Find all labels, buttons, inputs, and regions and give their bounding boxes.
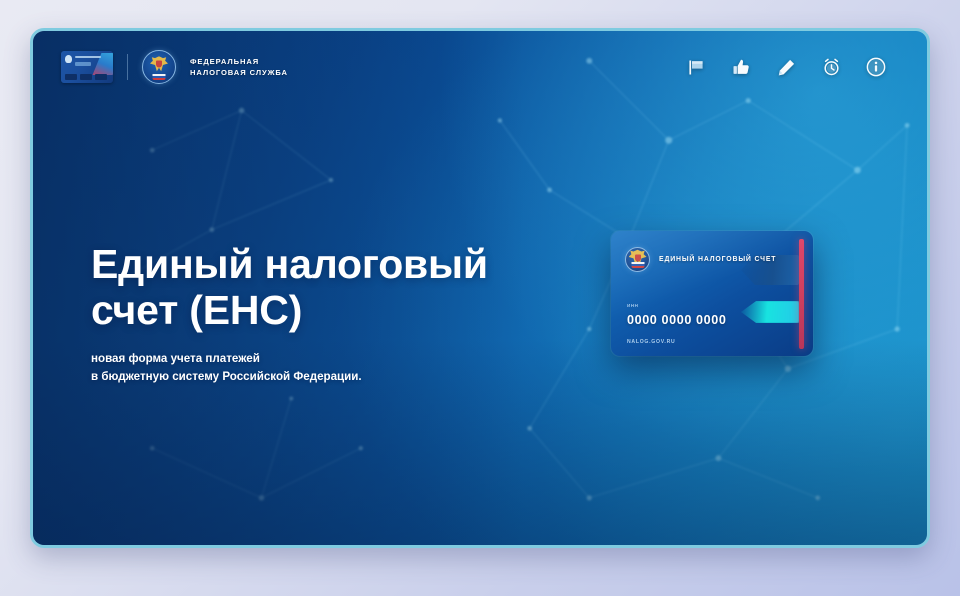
hero-subtitle-line-1: новая форма учета платежей [91, 350, 561, 368]
brand-wordmark: ФЕДЕРАЛЬНАЯ НАЛОГОВАЯ СЛУЖБА [190, 56, 288, 78]
card-inn-number: 0000 0000 0000 [627, 313, 726, 327]
page-title: Единый налоговый счет (ЕНС) [91, 241, 561, 334]
eagle-shield [635, 254, 641, 261]
promo-card-logo[interactable] [61, 51, 113, 83]
brand-line-1: ФЕДЕРАЛЬНАЯ [190, 56, 288, 67]
hero-banner-frame: ФЕДЕРАЛЬНАЯ НАЛОГОВАЯ СЛУЖБА [30, 28, 930, 548]
hero-subtitle-line-2: в бюджетную систему Российской Федерации… [91, 368, 561, 386]
hero-header: ФЕДЕРАЛЬНАЯ НАЛОГОВАЯ СЛУЖБА [33, 31, 927, 103]
brand-line-2: НАЛОГОВАЯ СЛУЖБА [190, 67, 288, 78]
promo-card-line-2 [75, 62, 91, 66]
thumbs-up-icon[interactable] [728, 54, 754, 80]
alarm-clock-icon[interactable] [818, 54, 844, 80]
card-title: ЕДИНЫЙ НАЛОГОВЫЙ СЧЕТ [659, 256, 776, 263]
fns-eagle-emblem-icon [625, 247, 650, 272]
promo-card-emblem-icon [65, 55, 72, 63]
info-circle-icon[interactable] [863, 54, 889, 80]
header-actions [683, 54, 889, 80]
hero-title-line-1: Единый налоговый [91, 241, 488, 287]
card-red-stripe [799, 239, 804, 349]
card-inn-label: ИНН [627, 303, 638, 308]
hero-title-line-2: счет (ЕНС) [91, 287, 302, 333]
russian-tricolor [153, 74, 166, 80]
hero-subtitle: новая форма учета платежей в бюджетную с… [91, 350, 561, 386]
promo-card-button-1 [65, 74, 77, 80]
fns-eagle-emblem-icon [142, 50, 176, 84]
russian-tricolor [631, 262, 644, 268]
brand-divider [127, 54, 128, 80]
eagle-shield [156, 61, 162, 68]
pencil-icon[interactable] [773, 54, 799, 80]
promo-card-button-3 [95, 74, 107, 80]
flag-icon[interactable] [683, 54, 709, 80]
card-header: ЕДИНЫЙ НАЛОГОВЫЙ СЧЕТ [625, 247, 776, 272]
promo-card-line-1 [75, 56, 101, 58]
promo-card-button-2 [80, 74, 92, 80]
page-root: ФЕДЕРАЛЬНАЯ НАЛОГОВАЯ СЛУЖБА [0, 0, 960, 596]
ens-card-graphic: ЕДИНЫЙ НАЛОГОВЫЙ СЧЕТ ИНН 0000 0000 0000… [611, 231, 813, 356]
hero-copy: Единый налоговый счет (ЕНС) новая форма … [91, 241, 561, 386]
card-domain: NALOG.GOV.RU [627, 339, 675, 345]
brand-group[interactable]: ФЕДЕРАЛЬНАЯ НАЛОГОВАЯ СЛУЖБА [61, 50, 288, 84]
